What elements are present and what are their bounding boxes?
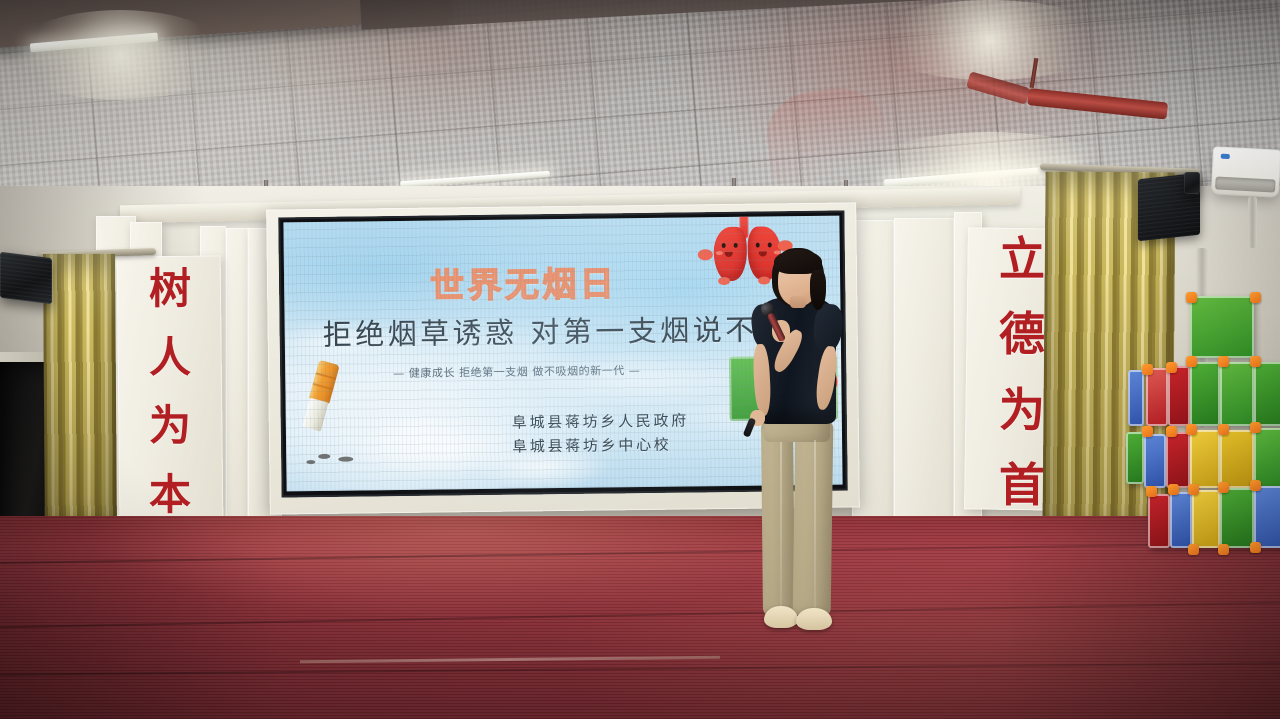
ac-pipe bbox=[1248, 196, 1257, 248]
calligraphy-char: 人 bbox=[149, 337, 191, 379]
slide-org-line-2: 阜城县蒋坊乡中心校 bbox=[512, 434, 672, 457]
slide-subtitle: 拒绝烟草诱惑 对第一支烟说不 bbox=[322, 307, 757, 354]
air-conditioner bbox=[1211, 146, 1280, 197]
neck bbox=[790, 296, 806, 308]
cube-connector bbox=[1218, 482, 1229, 493]
cube-connector bbox=[1166, 426, 1177, 437]
slide-org-line-1: 阜城县蒋坊乡人民政府 bbox=[512, 409, 689, 432]
wall-panel bbox=[894, 218, 954, 518]
curtain-left bbox=[43, 254, 117, 542]
ac-indicator-light bbox=[1221, 154, 1230, 159]
wall-panel bbox=[226, 228, 248, 518]
storage-cube bbox=[1254, 486, 1280, 548]
storage-cube bbox=[1190, 296, 1254, 358]
cube-connector bbox=[1168, 484, 1179, 495]
calligraphy-char: 首 bbox=[999, 462, 1045, 508]
speaker-bracket bbox=[1184, 172, 1200, 194]
storage-cube-stack bbox=[1122, 286, 1280, 576]
pants-right-leg bbox=[793, 420, 834, 617]
storage-cube bbox=[1128, 370, 1144, 426]
cube-connector bbox=[1218, 544, 1229, 555]
cube-connector bbox=[1218, 424, 1229, 435]
calligraphy-char: 德 bbox=[999, 311, 1045, 357]
cube-connector bbox=[1250, 422, 1261, 433]
cube-connector bbox=[1146, 486, 1157, 497]
calligraphy-char: 为 bbox=[999, 387, 1045, 433]
cube-connector bbox=[1186, 424, 1197, 435]
shoe-right bbox=[796, 608, 832, 630]
cube-connector bbox=[1142, 426, 1153, 437]
lungs-blush bbox=[716, 251, 723, 255]
cube-connector bbox=[1250, 542, 1261, 553]
wall-speaker-left bbox=[0, 252, 52, 304]
pants-crease bbox=[814, 440, 816, 608]
ceiling-fan-red bbox=[1006, 58, 1010, 62]
storage-cube bbox=[1166, 432, 1190, 488]
storage-cube bbox=[1192, 490, 1220, 548]
calligraphy-left: 树 人 为 本 bbox=[124, 262, 216, 522]
calligraphy-char: 本 bbox=[149, 474, 191, 516]
ac-vent bbox=[1215, 176, 1276, 192]
cube-connector bbox=[1250, 356, 1261, 367]
storage-cube bbox=[1254, 362, 1280, 426]
presentation-clicker[interactable] bbox=[743, 417, 757, 437]
cigarette-body bbox=[302, 398, 328, 432]
storage-cube bbox=[1170, 492, 1192, 548]
cube-connector bbox=[1188, 484, 1199, 495]
lungs-foot-left bbox=[718, 277, 730, 285]
storage-cube bbox=[1168, 366, 1190, 426]
cube-connector bbox=[1250, 480, 1261, 491]
storage-cube bbox=[1148, 494, 1170, 548]
cube-connector bbox=[1218, 356, 1229, 367]
hair-ponytail bbox=[810, 270, 826, 310]
cube-connector bbox=[1186, 356, 1197, 367]
lungs-eye bbox=[722, 243, 726, 248]
cube-connector bbox=[1188, 544, 1199, 555]
cigarette-ash bbox=[338, 457, 353, 462]
slide-title: 世界无烟日 bbox=[430, 256, 618, 307]
pants-left-leg bbox=[761, 422, 795, 616]
cigarette-filter bbox=[309, 360, 340, 404]
lungs-eye bbox=[734, 243, 738, 248]
cube-connector bbox=[1250, 292, 1261, 303]
storage-cube bbox=[1220, 430, 1254, 488]
slide-tagline: — 健康成长 拒绝第一支烟 做不吸烟的新一代 — bbox=[393, 362, 640, 381]
lungs-arm-left bbox=[698, 249, 713, 260]
storage-cube bbox=[1220, 362, 1254, 426]
cigarette-ash bbox=[306, 460, 315, 464]
cigarette-butt-icon bbox=[300, 360, 344, 436]
storage-cube bbox=[1144, 434, 1166, 488]
calligraphy-char: 为 bbox=[149, 405, 191, 447]
storage-cube bbox=[1190, 430, 1220, 488]
speaker-grille bbox=[0, 252, 52, 304]
cube-connector bbox=[1142, 364, 1153, 375]
storage-cube bbox=[1146, 368, 1168, 426]
storage-cube bbox=[1190, 362, 1220, 426]
cube-connector bbox=[1166, 362, 1177, 373]
cigarette-ash bbox=[318, 454, 330, 459]
curtain-shading bbox=[43, 254, 117, 542]
calligraphy-char: 树 bbox=[149, 268, 191, 310]
storage-cube bbox=[1220, 488, 1254, 548]
pants-crease bbox=[780, 442, 782, 608]
storage-cube bbox=[1126, 432, 1144, 484]
presenter bbox=[740, 246, 870, 646]
auditorium-scene: 树 人 为 本 立 德 为 首 bbox=[0, 0, 1280, 719]
shoe-left bbox=[764, 606, 798, 628]
cube-connector bbox=[1186, 292, 1197, 303]
calligraphy-char: 立 bbox=[999, 236, 1045, 282]
storage-cube bbox=[1254, 428, 1280, 488]
